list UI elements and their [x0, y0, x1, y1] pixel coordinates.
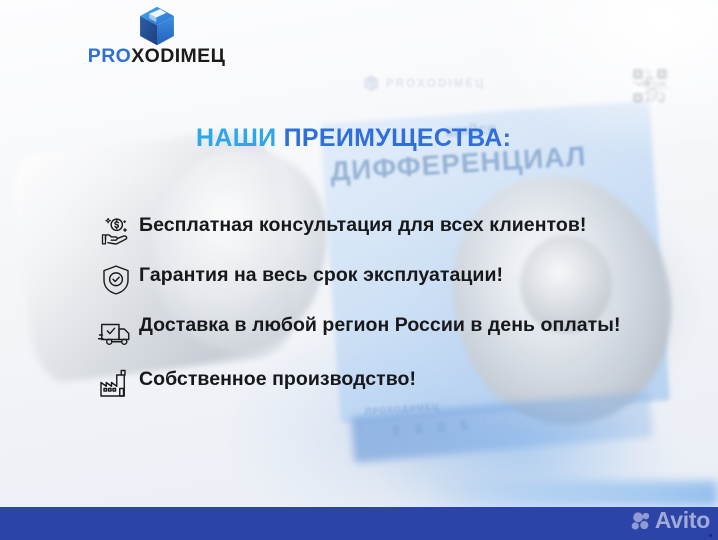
list-item: Доставка в любой регион России в день оп…: [93, 308, 663, 358]
page-title-part-1: НАШИ: [196, 124, 284, 152]
brand-name-accent: PRO: [88, 45, 131, 67]
avito-label: Avito: [655, 509, 710, 532]
brand-logo: PROXODIMEЦ: [84, 6, 229, 67]
list-item-label: Доставка в любой регион России в день оп…: [139, 308, 663, 338]
page-title-part-2: ПРЕИМУЩЕСТВА:: [284, 124, 512, 152]
list-item: Гарантия на весь срок эксплуатации!: [93, 258, 663, 302]
hand-with-coin-icon: [93, 208, 139, 252]
brand-name-rest: XODIMEЦ: [131, 45, 225, 67]
benefits-list: Бесплатная консультация для всех клиенто…: [93, 208, 663, 412]
bottom-bar: Avito: [0, 507, 718, 540]
cube-logo-icon: [134, 6, 180, 46]
photo-bleed: [430, 481, 718, 507]
shield-check-icon: [93, 258, 139, 302]
factory-icon: [93, 362, 139, 406]
avito-watermark: Avito: [631, 509, 710, 532]
list-item-label: Бесплатная консультация для всех клиенто…: [139, 208, 663, 238]
corner-dot: [709, 534, 712, 537]
list-item: Бесплатная консультация для всех клиенто…: [93, 208, 663, 252]
list-item: Собственное производство!: [93, 362, 663, 406]
list-item-label: Гарантия на весь срок эксплуатации!: [139, 258, 663, 288]
page-title: НАШИ ПРЕИМУЩЕСТВА:: [196, 124, 511, 153]
delivery-truck-icon: [93, 308, 139, 358]
list-item-label: Собственное производство!: [139, 362, 663, 392]
banner-content: PROXODIMEЦ НАШИ ПРЕИМУЩЕСТВА:: [0, 0, 718, 540]
brand-name: PROXODIMEЦ: [84, 47, 229, 67]
promo-banner: PROXODIMEЦ щийся ДИФФЕРЕНЦИАЛ ПРОХОДИМЕЦ…: [0, 0, 718, 540]
avito-dots-icon: [631, 512, 651, 530]
